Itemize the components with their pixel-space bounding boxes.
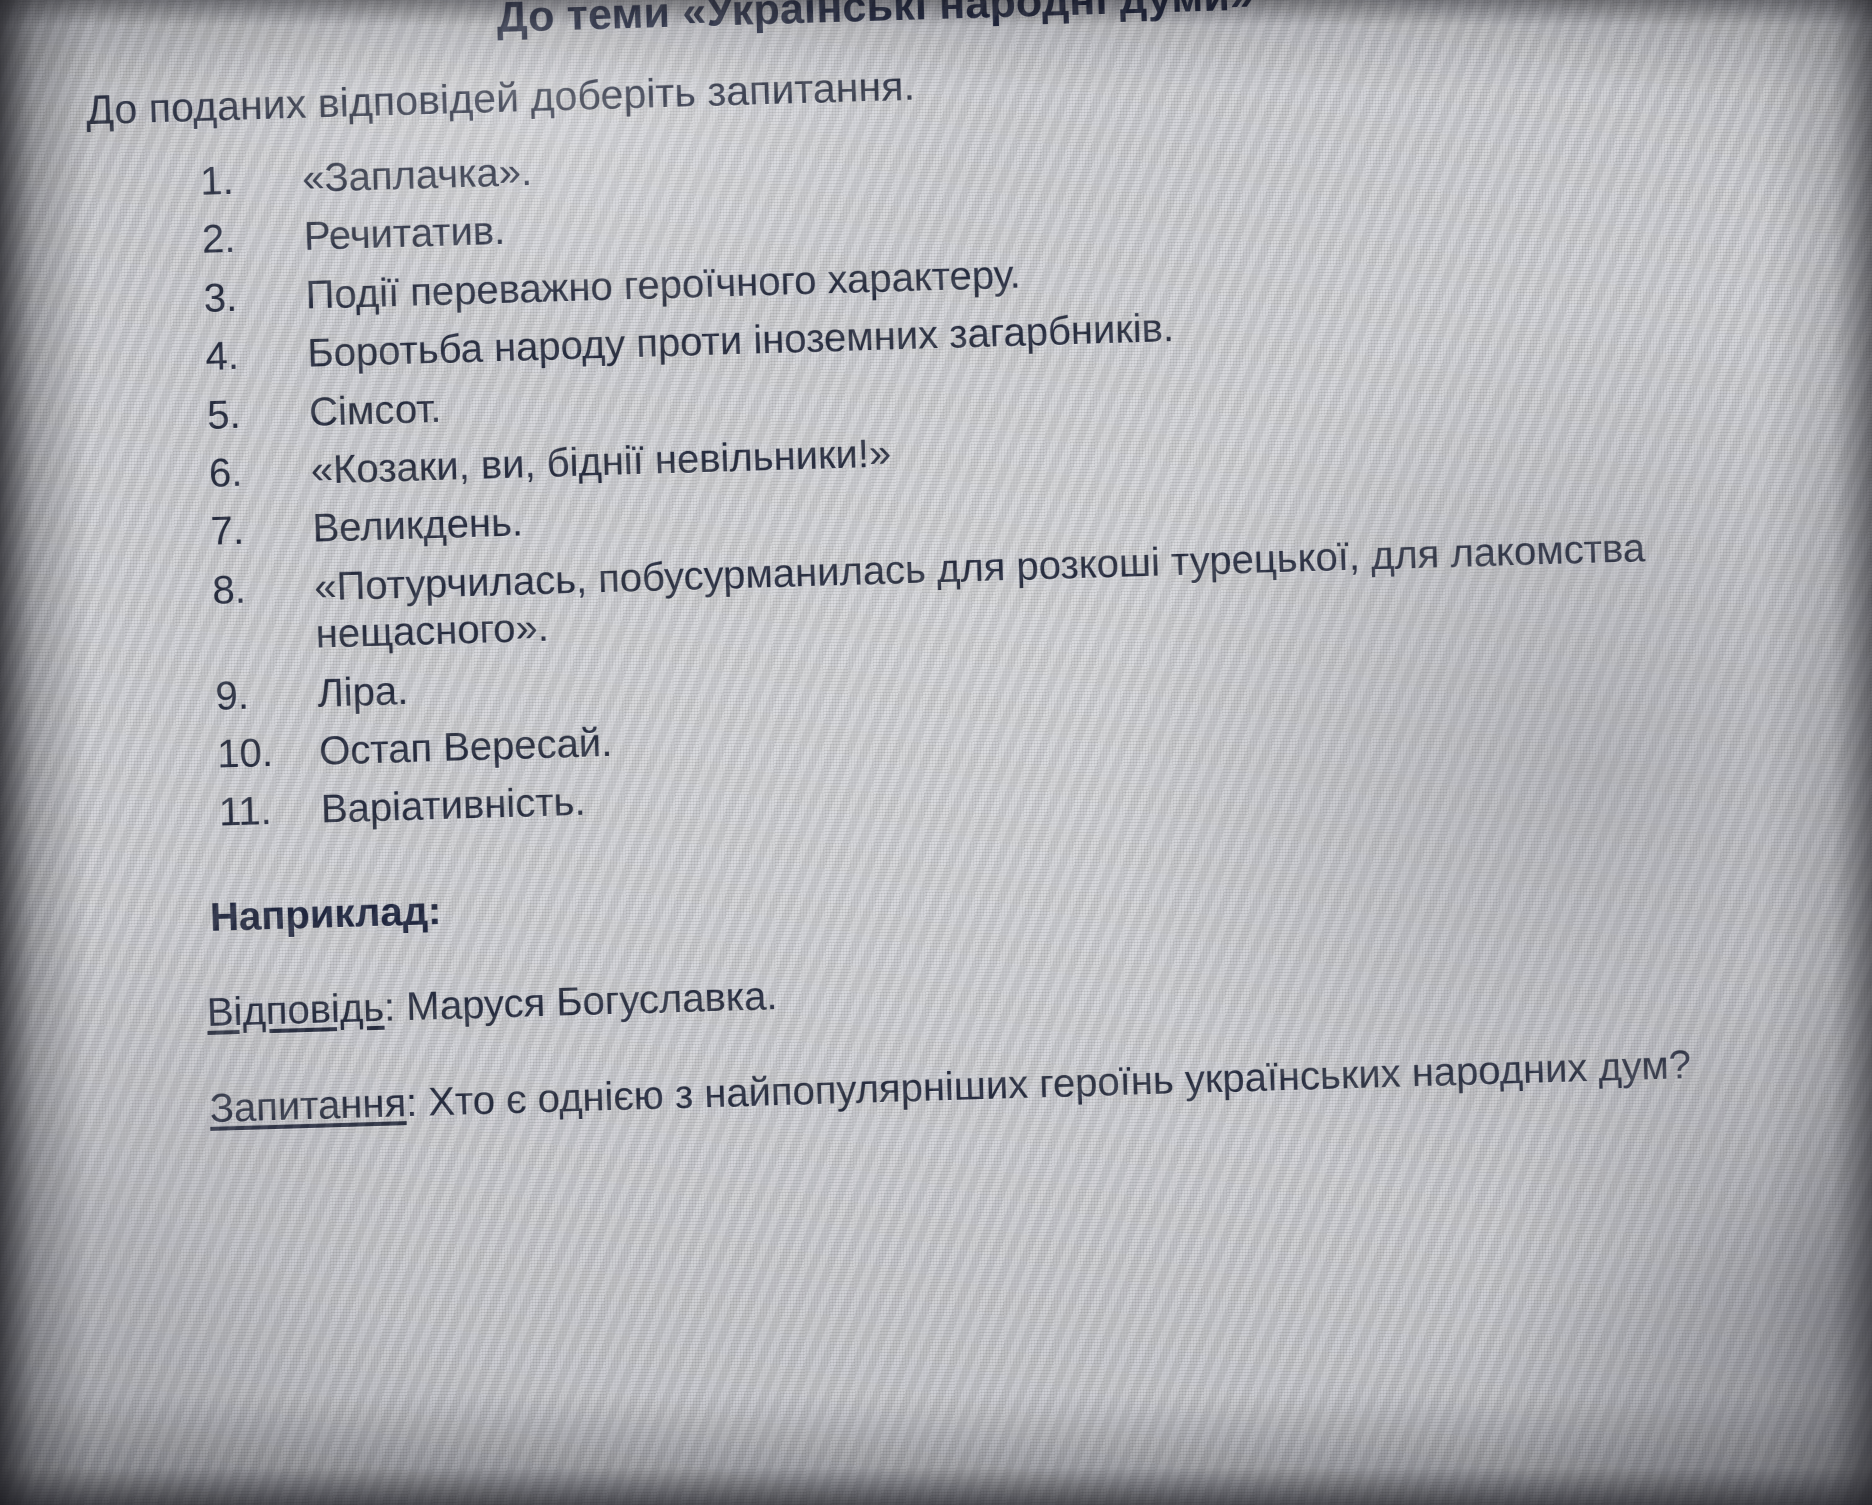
list-item-label: Сімсот. bbox=[309, 386, 442, 434]
monitor-screen-surface: До теми «Українські народні думи» До под… bbox=[0, 0, 1872, 1505]
answer-value: Маруся Богуславка. bbox=[406, 974, 779, 1029]
list-item-number: 1. bbox=[200, 156, 287, 206]
list-item-number: 4. bbox=[205, 331, 292, 381]
list-item-number: 11. bbox=[218, 787, 305, 837]
list-item-number: 10. bbox=[217, 729, 304, 779]
list-item-number: 8. bbox=[212, 565, 299, 615]
list-item-label: Великдень. bbox=[312, 501, 524, 551]
list-item-label: Боротьба народу проти іноземних загарбни… bbox=[307, 306, 1175, 376]
answer-separator: : bbox=[383, 985, 407, 1030]
example-answer-line: Відповідь: Маруся Богуславка. bbox=[206, 940, 1835, 1036]
list-item-number: 3. bbox=[203, 273, 290, 323]
answers-list: 1. «Заплачка». 2. Речитатив. 3. Події пе… bbox=[10, 111, 1829, 843]
list-item-label: «Заплачка». bbox=[302, 150, 533, 201]
answer-label: Відповідь bbox=[206, 985, 384, 1034]
list-item-label: Остап Вересай. bbox=[319, 721, 613, 774]
list-item-label: Ліра. bbox=[317, 668, 409, 715]
list-item-label: Події переважно героїчного характеру. bbox=[305, 252, 1021, 317]
question-separator: : bbox=[405, 1080, 429, 1125]
list-item-number: 5. bbox=[207, 390, 294, 440]
list-item-label: «Козаки, ви, біднії невільники!» bbox=[310, 431, 892, 492]
list-item-label: Речитатив. bbox=[303, 209, 506, 259]
presentation-slide: До теми «Українські народні думи» До под… bbox=[4, 0, 1847, 1466]
example-heading: Наприклад: bbox=[209, 847, 1832, 940]
list-item-number: 6. bbox=[208, 448, 295, 498]
question-value: Хто є однією з найпопулярніших героїнь у… bbox=[428, 1043, 1692, 1124]
example-question-line: Запитання: Хто є однією з найпопулярніши… bbox=[209, 1036, 1838, 1132]
slide-photograph: До теми «Українські народні думи» До под… bbox=[0, 0, 1872, 1505]
list-item-number: 9. bbox=[215, 671, 302, 721]
list-item-number: 2. bbox=[201, 215, 288, 265]
list-item-number: 7. bbox=[210, 506, 297, 556]
list-item-label: Варіативність. bbox=[320, 780, 586, 832]
question-label: Запитання bbox=[209, 1081, 407, 1131]
